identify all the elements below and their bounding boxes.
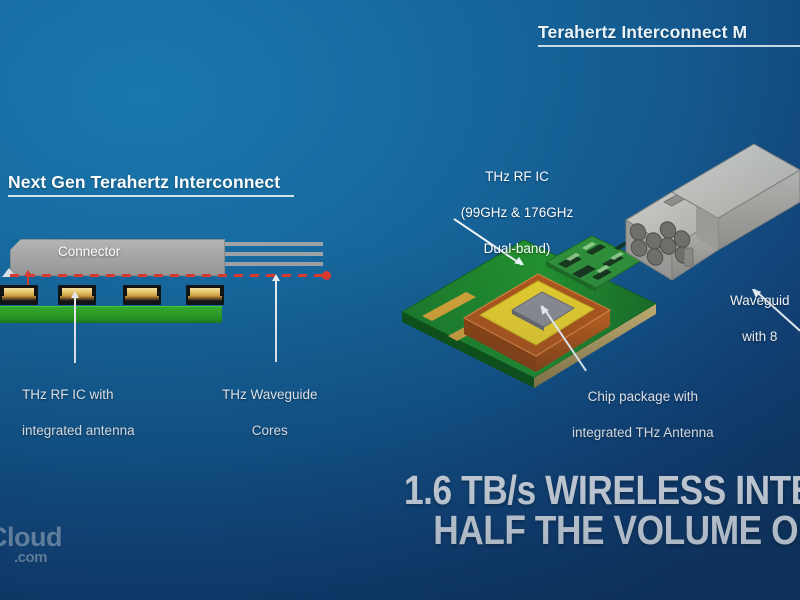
caption-rfic-line1: THz RF IC with [22,386,135,404]
integrated-antenna-1 [4,288,34,296]
caption-rfic-line2: integrated antenna [22,422,135,440]
caption-thzrfic-line2: (99GHz & 176GHz [424,204,610,222]
slide-headline: 1.6 TB/s WIRELESS INTE HALF THE VOLUME O… [404,470,800,550]
thz-rf-ic-3 [123,285,161,305]
integrated-antenna-3 [127,288,157,296]
pcb-substrate [0,306,222,323]
caption-waveguide: Waveguid with 8 [730,274,790,364]
heading-right: Terahertz Interconnect M [538,22,800,47]
waveguide-core-2 [225,252,323,256]
caption-waveguide-line1: Waveguid [730,292,790,310]
waveguide-core-1 [225,242,323,246]
caption-thz-rf-ic-antenna: THz RF IC with integrated antenna [22,368,135,458]
connector-chamfer [10,239,21,250]
caption-wgc-line1: THz Waveguide [222,386,318,404]
heading-left: Next Gen Terahertz Interconnect [8,172,294,197]
caption-chippkg-line2: integrated THz Antenna [572,424,714,442]
waveguide-core-3 [225,262,323,266]
headline-line-2: HALF THE VOLUME OF [433,510,800,550]
leader-line-rf-ic [74,297,76,363]
watermark-logo: Cloud .com [0,524,62,565]
headline-line-1: 1.6 TB/s WIRELESS INTE [404,467,800,513]
caption-waveguide-line2: with 8 [730,328,790,346]
heading-left-underline [8,195,294,197]
interconnect-cross-section-diagram: Connector [0,232,340,342]
slide-canvas: Next Gen Terahertz Interconnect Terahert… [0,0,800,600]
heading-right-underline [538,45,800,47]
heading-left-text: Next Gen Terahertz Interconnect [8,172,280,192]
antenna-glow-3 [125,296,159,301]
caption-thzrfic-line1: THz RF IC [424,168,610,186]
integrated-antenna-4 [190,288,220,296]
thz-rf-ic-4 [186,285,224,305]
connector-label: Connector [58,244,120,259]
antenna-glow-1 [2,296,36,301]
caption-chippkg-line1: Chip package with [572,388,714,406]
caption-thzrfic-line3: Dual-band) [424,240,610,258]
caption-chip-package: Chip package with integrated THz Antenna [572,370,714,460]
antenna-glow-4 [188,296,222,301]
watermark-name: Cloud [0,522,62,552]
thz-rf-ic-1 [0,285,38,305]
leader-line-waveguide-cores [275,280,277,362]
caption-thz-waveguide-cores: THz Waveguide Cores [222,368,318,458]
caption-thz-rf-ic: THz RF IC (99GHz & 176GHz Dual-band) [424,150,610,276]
signal-path-endpoint-dot [322,271,331,280]
caption-wgc-line2: Cores [222,422,318,440]
heading-right-text: Terahertz Interconnect M [538,22,747,42]
watermark-tld: .com [14,550,62,565]
